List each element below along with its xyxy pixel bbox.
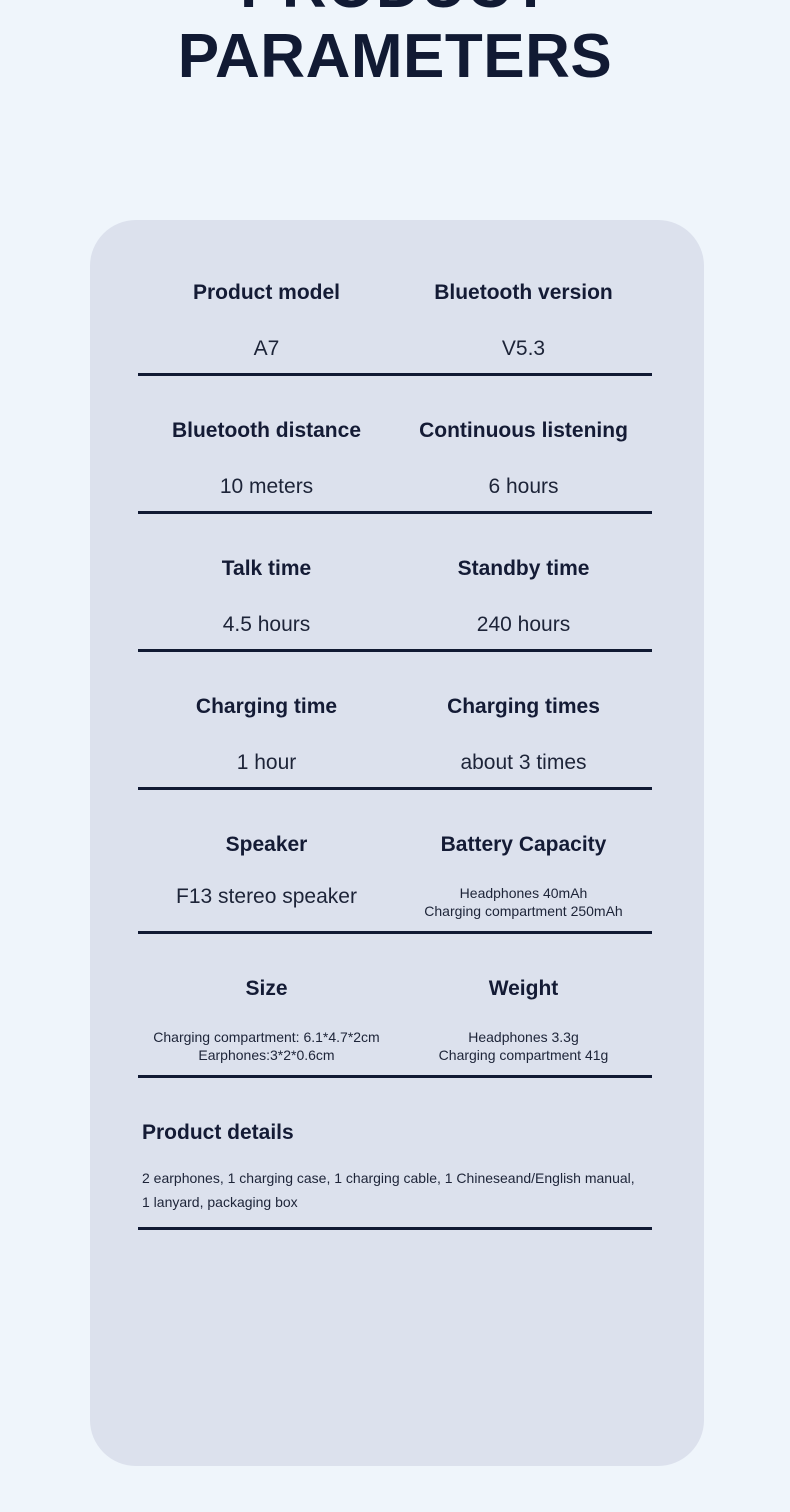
spec-value: 4.5 hours [142,612,391,638]
page-title: PRODUCT PARAMETERS [0,0,790,92]
spec-label: Talk time [142,556,391,582]
spec-value: A7 [142,336,391,362]
product-details-title: Product details [138,1120,652,1146]
table-row: Charging time 1 hour Charging times abou… [138,694,652,790]
spec-value: Headphones 40mAh Charging compartment 25… [399,884,648,920]
spec-value: V5.3 [399,336,648,362]
product-details-section: Product details 2 earphones, 1 charging … [138,1120,652,1230]
spec-label: Standby time [399,556,648,582]
spec-value: 6 hours [399,474,648,500]
spec-label: Charging times [399,694,648,720]
row-divider [138,1075,652,1078]
spec-label: Size [142,976,391,1002]
specifications-card: Product model A7 Bluetooth version V5.3 … [90,220,704,1466]
spec-label: Speaker [142,832,391,858]
table-row: Bluetooth distance 10 meters Continuous … [138,418,652,514]
spec-value: 240 hours [399,612,648,638]
page-title-line-1: PRODUCT [0,0,790,22]
spec-label: Charging time [142,694,391,720]
table-row: Product model A7 Bluetooth version V5.3 [138,280,652,376]
spec-cell-talk-time: Talk time 4.5 hours [138,556,395,638]
spec-value: F13 stereo speaker [142,884,391,910]
spec-value-line: Charging compartment 250mAh [399,902,648,920]
spec-cell-battery-capacity: Battery Capacity Headphones 40mAh Chargi… [395,832,652,920]
spec-value-line: Headphones 40mAh [399,884,648,902]
spec-cell-speaker: Speaker F13 stereo speaker [138,832,395,920]
row-divider [138,931,652,934]
spec-label: Weight [399,976,648,1002]
product-details-text: 2 earphones, 1 charging case, 1 charging… [138,1166,652,1214]
specifications-list: Product model A7 Bluetooth version V5.3 … [138,280,652,1230]
spec-cell-bluetooth-version: Bluetooth version V5.3 [395,280,652,362]
spec-value: about 3 times [399,750,648,776]
spec-cell-product-model: Product model A7 [138,280,395,362]
spec-value-line: Charging compartment 41g [399,1046,648,1064]
spec-value: Headphones 3.3g Charging compartment 41g [399,1028,648,1064]
product-details-line: 2 earphones, 1 charging case, 1 charging… [142,1166,652,1190]
spec-cell-charging-times: Charging times about 3 times [395,694,652,776]
spec-label: Continuous listening [399,418,648,444]
spec-cell-standby-time: Standby time 240 hours [395,556,652,638]
spec-value: 10 meters [142,474,391,500]
spec-label: Bluetooth distance [142,418,391,444]
table-row: Speaker F13 stereo speaker Battery Capac… [138,832,652,934]
spec-cell-size: Size Charging compartment: 6.1*4.7*2cm E… [138,976,395,1064]
spec-value-line: Charging compartment: 6.1*4.7*2cm [142,1028,391,1046]
spec-value: Charging compartment: 6.1*4.7*2cm Earpho… [142,1028,391,1064]
product-details-line: 1 lanyard, packaging box [142,1190,652,1214]
page-title-line-2: PARAMETERS [0,22,790,92]
row-divider [138,373,652,376]
spec-cell-charging-time: Charging time 1 hour [138,694,395,776]
row-divider [138,787,652,790]
row-divider [138,649,652,652]
table-row: Size Charging compartment: 6.1*4.7*2cm E… [138,976,652,1078]
row-divider [138,1227,652,1230]
spec-cell-weight: Weight Headphones 3.3g Charging compartm… [395,976,652,1064]
spec-value: 1 hour [142,750,391,776]
spec-value-line: Earphones:3*2*0.6cm [142,1046,391,1064]
spec-cell-continuous-listening: Continuous listening 6 hours [395,418,652,500]
spec-label: Product model [142,280,391,306]
spec-label: Battery Capacity [399,832,648,858]
table-row: Talk time 4.5 hours Standby time 240 hou… [138,556,652,652]
spec-value-line: Headphones 3.3g [399,1028,648,1046]
spec-cell-bluetooth-distance: Bluetooth distance 10 meters [138,418,395,500]
row-divider [138,511,652,514]
spec-label: Bluetooth version [399,280,648,306]
